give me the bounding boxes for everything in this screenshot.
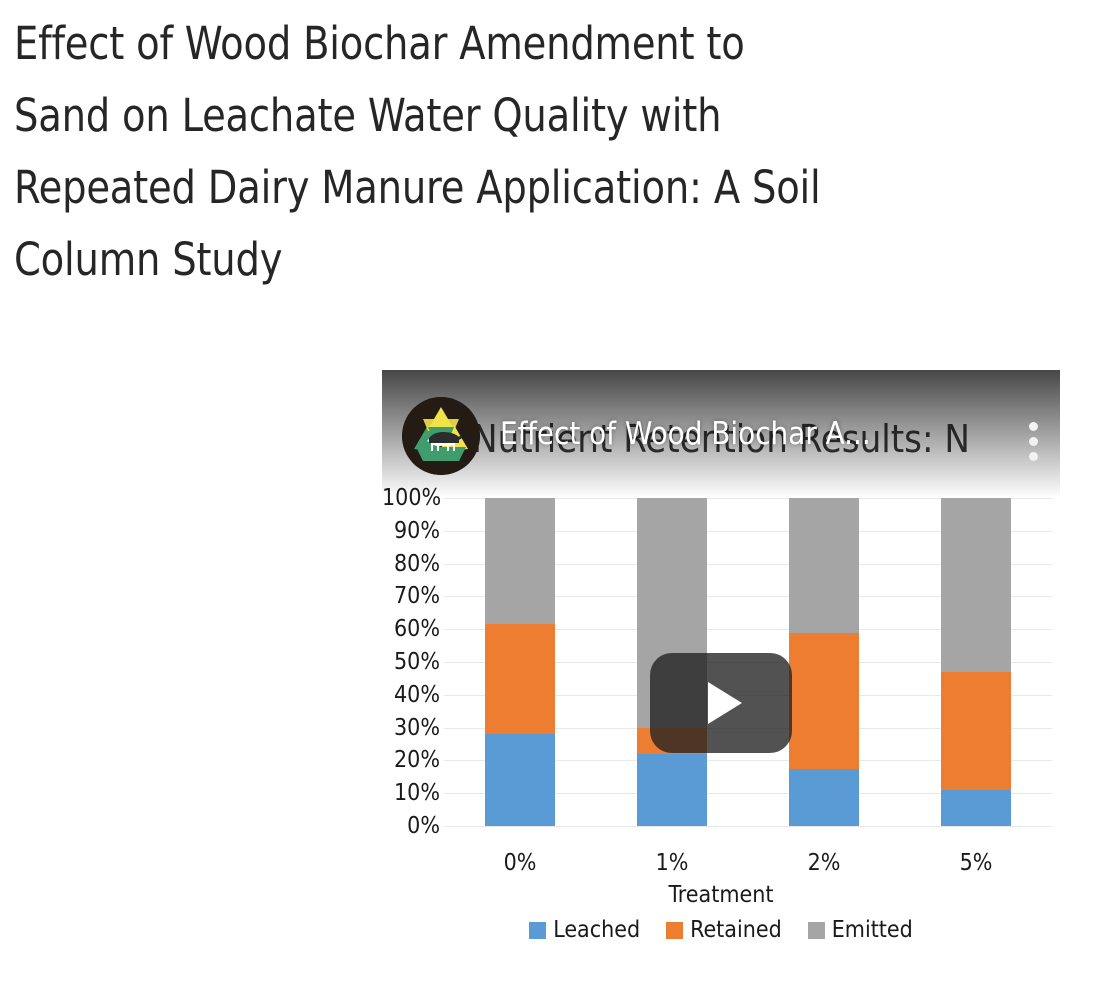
video-player[interactable]: Nutrient Retention Results: N 100%90%80%…	[382, 370, 1060, 960]
bar-0	[485, 498, 555, 826]
kebab-dot	[1029, 437, 1038, 446]
x-axis-title: Treatment	[382, 882, 1060, 908]
x-axis-tick-label: 2%	[749, 850, 899, 876]
bar-segment-emitted	[941, 498, 1011, 672]
y-axis-tick-label: 30%	[382, 715, 440, 741]
bar-segment-retained	[941, 672, 1011, 790]
legend-swatch-icon	[529, 922, 546, 939]
chart-legend: LeachedRetainedEmitted	[382, 917, 1060, 943]
bar-segment-leached	[485, 734, 555, 826]
video-overlay-title[interactable]: Effect of Wood Biochar A...	[500, 416, 1000, 452]
bar-segment-retained	[789, 633, 859, 769]
legend-item-retained: Retained	[666, 917, 782, 943]
legend-swatch-icon	[808, 922, 825, 939]
play-triangle	[708, 682, 742, 724]
bar-segment-emitted	[789, 498, 859, 632]
bar-5	[941, 498, 1011, 826]
legend-label: Emitted	[832, 917, 913, 943]
y-axis-tick-label: 40%	[382, 682, 440, 708]
legend-swatch-icon	[666, 922, 683, 939]
y-axis-tick-label: 90%	[382, 518, 440, 544]
gridline	[444, 826, 1052, 827]
y-axis-tick-label: 100%	[382, 485, 440, 511]
y-axis-tick-label: 10%	[382, 780, 440, 806]
page-title: Effect of Wood Biochar Amendment to Sand…	[14, 8, 1002, 296]
play-button-icon[interactable]	[650, 653, 792, 753]
kebab-menu-icon[interactable]	[1029, 422, 1038, 461]
bar-segment-emitted	[485, 498, 555, 624]
y-axis-tick-label: 70%	[382, 583, 440, 609]
kebab-dot	[1029, 422, 1038, 431]
legend-item-leached: Leached	[529, 917, 640, 943]
bar-segment-leached	[637, 754, 707, 826]
y-axis-tick-label: 20%	[382, 747, 440, 773]
kebab-dot	[1029, 452, 1038, 461]
legend-label: Leached	[553, 917, 640, 943]
y-axis-tick-label: 80%	[382, 551, 440, 577]
legend-item-emitted: Emitted	[808, 917, 913, 943]
bar-segment-leached	[941, 790, 1011, 826]
y-axis-tick-label: 60%	[382, 616, 440, 642]
x-axis-tick-label: 1%	[597, 850, 747, 876]
x-axis-tick-label: 5%	[901, 850, 1051, 876]
y-axis-tick-label: 0%	[382, 813, 440, 839]
bar-2	[789, 498, 859, 826]
y-axis-tick-label: 50%	[382, 649, 440, 675]
x-axis-tick-label: 0%	[445, 850, 595, 876]
bar-segment-leached	[789, 769, 859, 826]
y-axis: 100%90%80%70%60%50%40%30%20%10%0%	[382, 492, 440, 842]
legend-label: Retained	[690, 917, 782, 943]
bar-segment-retained	[485, 624, 555, 734]
recycling-cow-channel-avatar-icon[interactable]	[402, 397, 480, 475]
